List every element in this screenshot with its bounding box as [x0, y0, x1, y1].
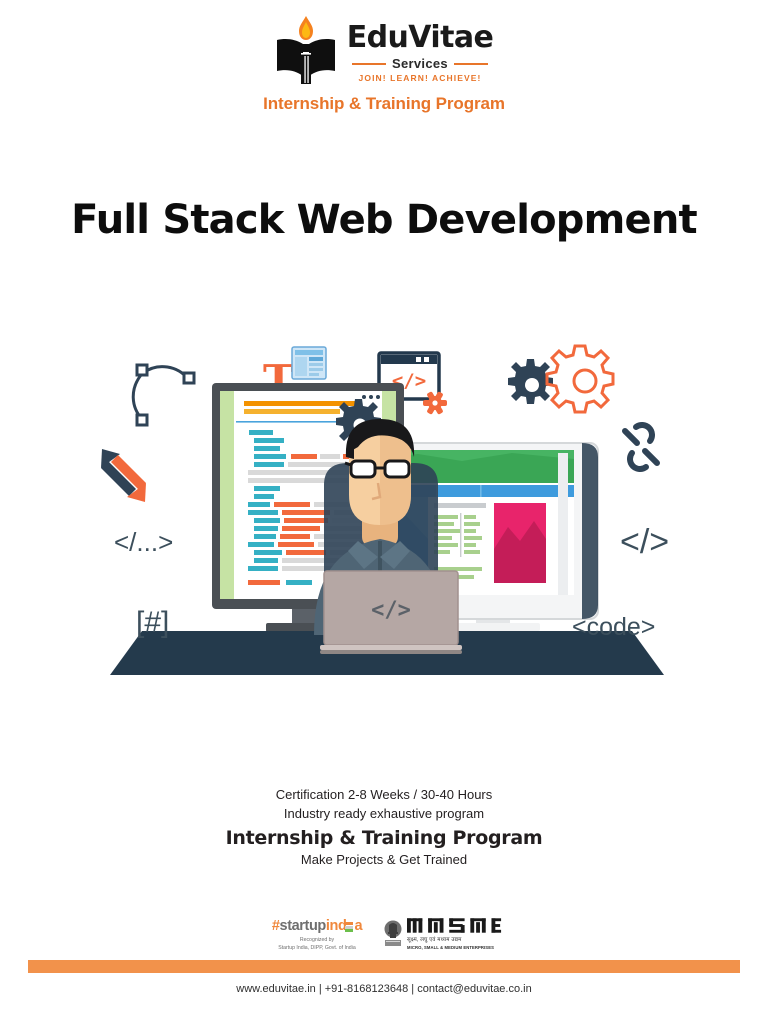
page-title: Full Stack Web Development: [0, 197, 768, 243]
laptop-code-logo: </>: [371, 598, 411, 623]
brand-rule-right: [454, 63, 488, 65]
footer-contact-line: www.eduvitae.in | +91-8168123648 | conta…: [0, 983, 768, 995]
blurb-projects: Make Projects & Get Trained: [0, 852, 768, 867]
program-blurb: Certification 2-8 Weeks / 30-40 Hours In…: [0, 786, 768, 867]
resize-arrows-icon: [101, 449, 146, 502]
startup-caption: Recognized by Startup India, DIPP, Govt.…: [278, 937, 355, 953]
document-header: EduVitae Services JOIN! LEARN! ACHIEVE! …: [0, 14, 768, 114]
laptop: </>: [320, 571, 462, 654]
code-ellipsis-glyph: </...>: [114, 527, 173, 557]
blurb-headline: Internship & Training Program: [0, 827, 768, 849]
blurb-certification: Certification 2-8 Weeks / 30-40 Hours: [0, 786, 768, 805]
startup-india-badge: #startupinda Recognized by Startup India…: [265, 918, 369, 953]
msme-badge: सूक्ष्म, लघु एवं मध्यम उद्यम MICRO, SMAL…: [383, 918, 503, 950]
broken-link-icon: [625, 425, 657, 469]
msme-english-line: MICRO, SMALL & MEDIUM ENTERPRISES: [407, 945, 494, 950]
startup-word-ind: ind: [326, 918, 347, 934]
gear-outline-icon: [547, 346, 613, 412]
open-book-with-torch-icon: [275, 14, 337, 86]
india-state-emblem-icon: [383, 920, 403, 948]
startup-hash: #: [272, 918, 280, 934]
wireframe-layout-icon: [292, 347, 326, 379]
startup-caption-line2: Startup India, DIPP, Govt. of India: [278, 945, 355, 953]
startup-caption-line1: Recognized by: [278, 937, 355, 945]
startup-word-end: a: [354, 918, 362, 934]
brand-wordmark: EduVitae Services JOIN! LEARN! ACHIEVE!: [347, 17, 493, 83]
pen-tool-nodes-icon: [137, 365, 194, 425]
code-slash-glyph: </>: [620, 523, 669, 561]
brand-tagline: JOIN! LEARN! ACHIEVE!: [359, 73, 482, 83]
illustration-svg: T </>: [96, 335, 676, 705]
footer-accent-bar: [28, 960, 740, 973]
brand-subtitle-row: Services: [352, 56, 488, 71]
brand-name: EduVitae: [347, 23, 493, 53]
code-tag-glyph: <code>: [572, 613, 655, 641]
india-flag-icon: [345, 922, 354, 931]
document-page: EduVitae Services JOIN! LEARN! ACHIEVE! …: [0, 0, 768, 1024]
brand-logo: EduVitae Services JOIN! LEARN! ACHIEVE!: [275, 14, 493, 86]
hash-bracket-glyph: [#]: [136, 606, 169, 639]
brand-subtitle: Services: [392, 56, 448, 71]
brand-rule-left: [352, 63, 386, 65]
startup-word-start: startup: [280, 918, 326, 934]
msme-text-block: सूक्ष्म, लघु एवं मध्यम उद्यम MICRO, SMAL…: [407, 918, 503, 950]
accreditation-badges: #startupinda Recognized by Startup India…: [0, 918, 768, 953]
msme-hindi-line: सूक्ष्म, लघु एवं मध्यम उद्यम: [407, 935, 462, 943]
blurb-industry: Industry ready exhaustive program: [0, 805, 768, 824]
header-program-line: Internship & Training Program: [263, 94, 505, 114]
startup-india-wordmark: #startupinda: [272, 918, 362, 934]
msme-wordmark-icon: [407, 918, 503, 933]
hero-illustration: T </>: [96, 335, 676, 705]
